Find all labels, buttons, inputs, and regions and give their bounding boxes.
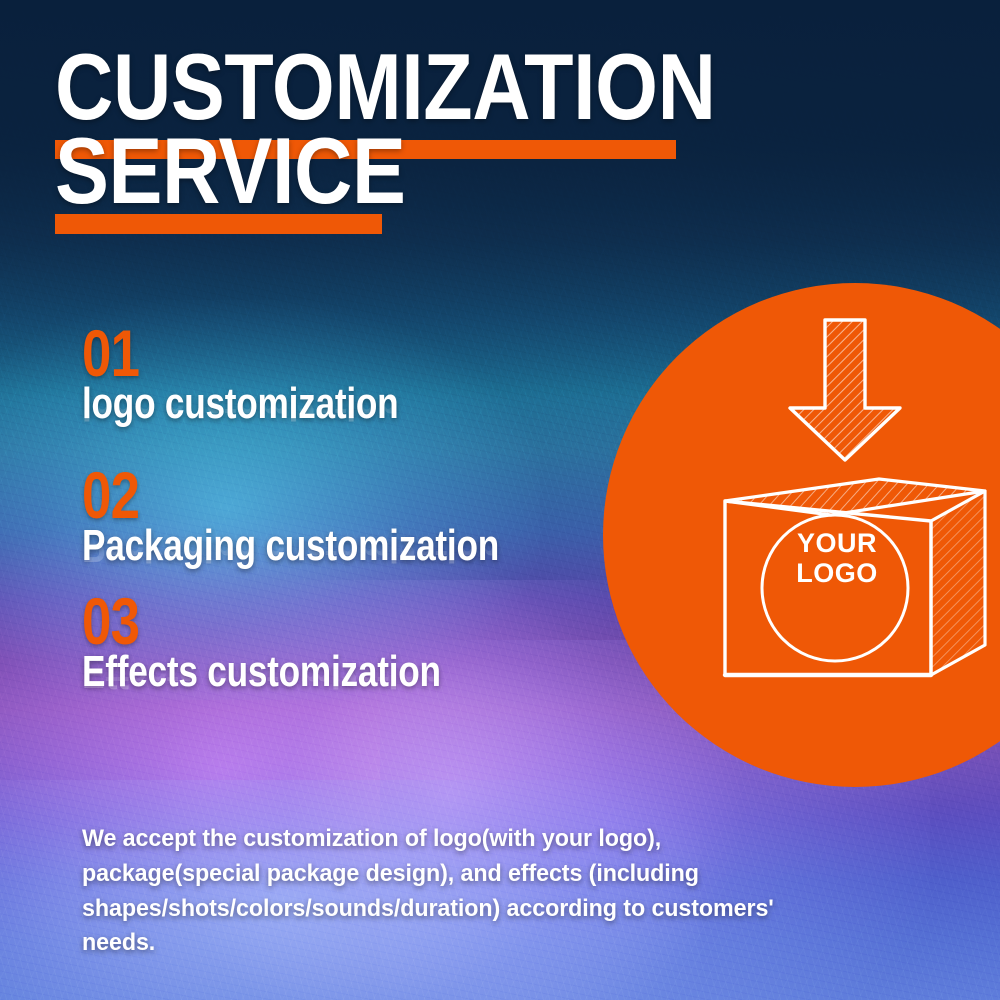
logo-placeholder-line-2: LOGO [796,558,878,588]
service-number-1: 01 [82,326,578,380]
description-paragraph: We accept the customization of logo(with… [82,822,814,961]
service-number-3: 03 [82,594,578,648]
service-item-1: 01 logo customization logo customization [82,326,702,426]
service-label-1: logo customization [82,382,578,426]
logo-placeholder-text: YOUR LOGO [757,528,917,588]
logo-placeholder-line-1: YOUR [797,528,877,558]
customization-service-poster: CUSTOMIZATION SERVICE 01 logo customizat… [0,0,1000,1000]
service-item-3: 03 Effects customization Effects customi… [82,594,702,694]
poster-header: CUSTOMIZATION SERVICE [55,44,755,215]
page-title-secondary: SERVICE [55,128,657,214]
service-label-3: Effects customization [82,650,578,694]
service-label-2: Packaging customization [82,524,578,568]
service-label-wrap-3: Effects customization Effects customizat… [82,650,702,694]
title-line-2: SERVICE [55,128,755,214]
service-label-wrap-1: logo customization logo customization [82,382,702,426]
service-number-2: 02 [82,468,578,522]
